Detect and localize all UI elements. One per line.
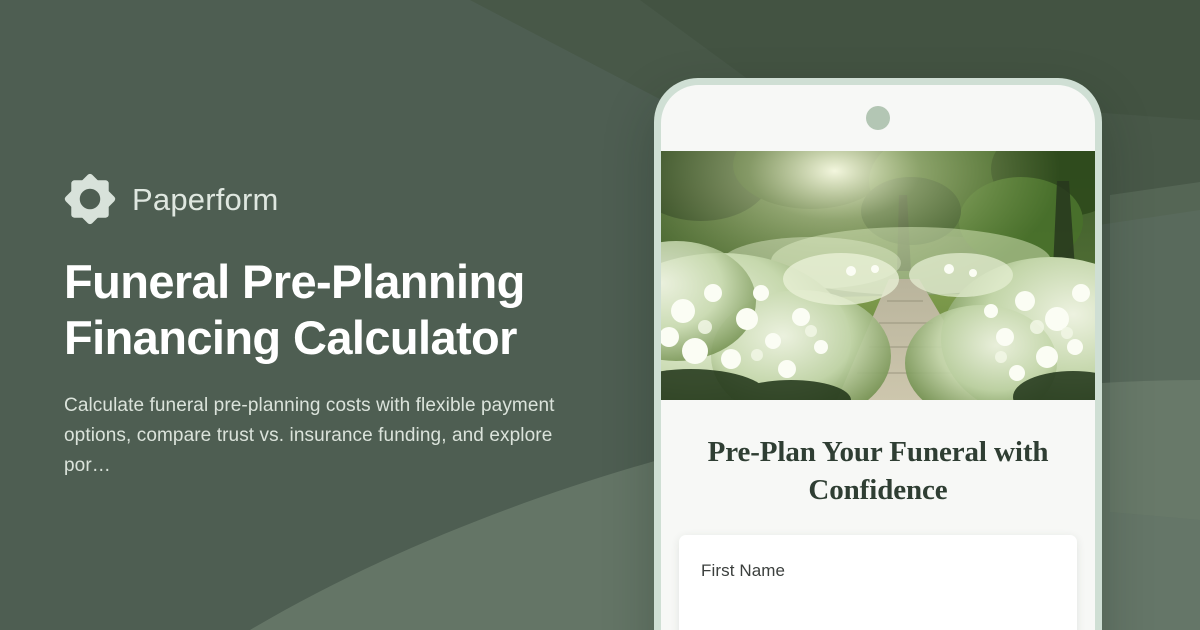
- page-subtitle: Calculate funeral pre-planning costs wit…: [64, 391, 564, 481]
- page-title: Funeral Pre-Planning Financing Calculato…: [64, 254, 584, 367]
- phone-screen: Pre-Plan Your Funeral with Confidence Fi…: [661, 85, 1095, 630]
- phone-mockup: Pre-Plan Your Funeral with Confidence Fi…: [654, 78, 1102, 630]
- background-band-right-lower: [1110, 512, 1200, 630]
- form-field-first-name[interactable]: First Name: [679, 535, 1077, 630]
- phone-topbar: [661, 85, 1095, 151]
- hero-content: Paperform Funeral Pre-Planning Financing…: [64, 170, 594, 481]
- form-heading: Pre-Plan Your Funeral with Confidence: [679, 400, 1077, 535]
- background-band-right: [1110, 182, 1200, 520]
- first-name-input[interactable]: [701, 620, 1055, 630]
- brand-lockup: Paperform: [64, 170, 594, 228]
- paperform-star-logo-icon: [64, 173, 116, 225]
- brand-name: Paperform: [132, 184, 279, 215]
- form-hero-image: [661, 151, 1095, 400]
- camera-dot-icon: [866, 106, 890, 130]
- form-body: Pre-Plan Your Funeral with Confidence Fi…: [661, 400, 1095, 630]
- first-name-label: First Name: [701, 561, 1055, 581]
- og-card: Paperform Funeral Pre-Planning Financing…: [0, 0, 1200, 630]
- garden-path-illustration: [661, 151, 1095, 400]
